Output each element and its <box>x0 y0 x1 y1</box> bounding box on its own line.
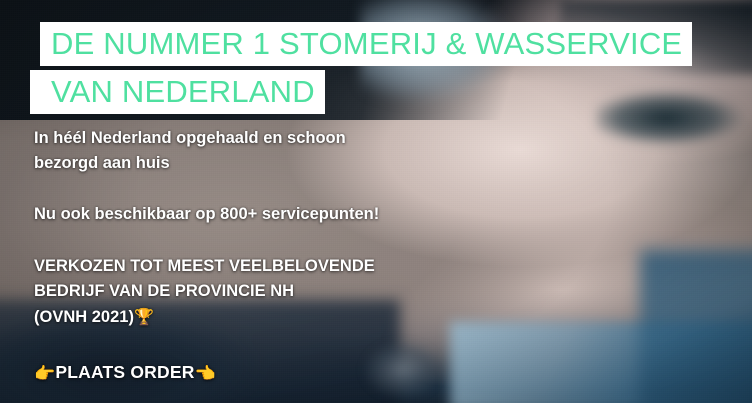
award-line-1: VERKOZEN TOT MEEST VEELBELOVENDE <box>34 254 454 279</box>
lead-line-2: bezorgd aan huis <box>34 151 454 176</box>
hero-content: DE NUMMER 1 STOMERIJ & WASSERVICE VAN NE… <box>0 0 752 403</box>
hero-banner: DE NUMMER 1 STOMERIJ & WASSERVICE VAN NE… <box>0 0 752 403</box>
hero-body: In héél Nederland opgehaald en schoon be… <box>34 126 454 387</box>
award-line-3-text: (OVNH 2021) <box>34 308 134 326</box>
servicepoints-paragraph: Nu ook beschikbaar op 800+ servicepunten… <box>34 202 454 227</box>
place-order-label: PLAATS ORDER <box>55 362 194 382</box>
award-line-3: (OVNH 2021)🏆 <box>34 304 454 330</box>
pointing-left-icon: 👈 <box>195 364 216 384</box>
lead-paragraph: In héél Nederland opgehaald en schoon be… <box>34 126 454 176</box>
headline: DE NUMMER 1 STOMERIJ & WASSERVICE VAN NE… <box>0 22 692 114</box>
trophy-icon: 🏆 <box>134 307 154 326</box>
award-paragraph: VERKOZEN TOT MEEST VEELBELOVENDE BEDRIJF… <box>34 254 454 330</box>
headline-line-1: DE NUMMER 1 STOMERIJ & WASSERVICE <box>40 22 692 66</box>
award-line-2: BEDRIJF VAN DE PROVINCIE NH <box>34 279 454 304</box>
place-order-cta[interactable]: 👉PLAATS ORDER👈 <box>34 360 454 387</box>
pointing-right-icon: 👉 <box>34 364 55 384</box>
lead-line-1: In héél Nederland opgehaald en schoon <box>34 126 454 151</box>
headline-line-2: VAN NEDERLAND <box>30 70 325 114</box>
